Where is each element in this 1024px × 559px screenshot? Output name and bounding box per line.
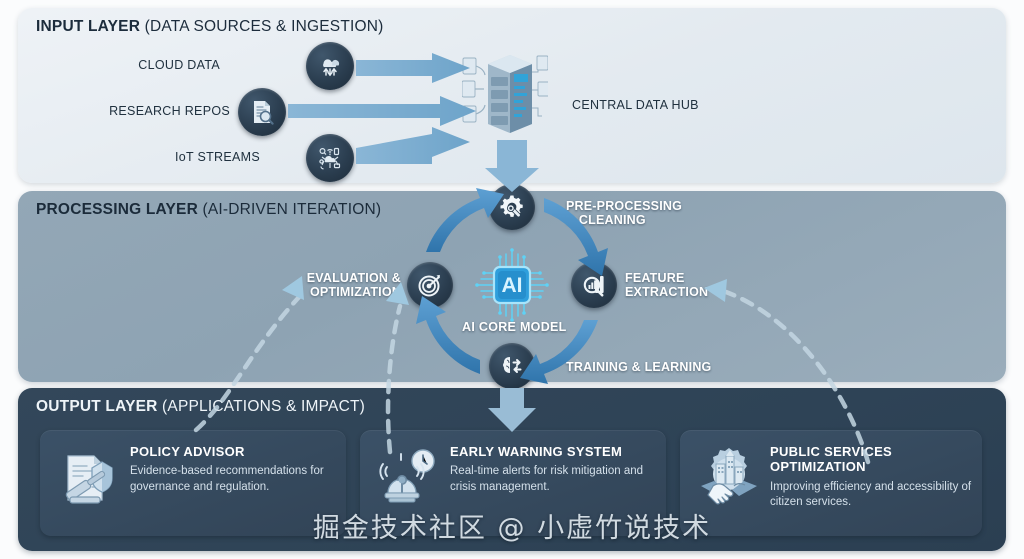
output-layer-title-rest: (APPLICATIONS & IMPACT) [158,398,365,415]
output-layer-title: OUTPUT LAYER (APPLICATIONS & IMPACT) [36,398,365,416]
svg-text:AI: AI [502,274,523,297]
input-layer-title-strong: INPUT LAYER [36,18,140,35]
chart-magnifier-icon[interactable] [571,262,617,308]
label-pre-processing: PRE-PROCESSING & CLEANING [566,199,706,228]
target-icon[interactable] [407,262,453,308]
diagram-canvas: INPUT LAYER (DATA SOURCES & INGESTION) C… [0,0,1024,559]
ai-core-model-caption: AI CORE MODEL [462,320,562,334]
ai-chip-icon[interactable]: AI [470,243,554,327]
output-card-title: EARLY WARNING SYSTEM [450,444,656,459]
gear-wrench-icon[interactable] [489,184,535,230]
input-layer-title-rest: (DATA SOURCES & INGESTION) [140,18,383,35]
output-card-title: POLICY ADVISOR [130,444,336,459]
processing-layer-title: PROCESSING LAYER (AI-DRIVEN ITERATION) [36,201,381,219]
label-pre-processing-line2: & CLEANING [566,213,706,227]
label-research-repos: RESEARCH REPOS [100,104,230,118]
output-card-text: POLICY ADVISOR Evidence-based recommenda… [126,442,336,495]
document-search-icon[interactable] [238,88,286,136]
label-feature-extraction-line2: EXTRACTION [625,285,755,299]
label-evaluation-optimization-line1: EVALUATION & [296,271,401,285]
label-feature-extraction-line1: FEATURE [625,271,755,285]
output-layer-title-strong: OUTPUT LAYER [36,398,158,415]
processing-layer-title-strong: PROCESSING LAYER [36,201,198,218]
label-evaluation-optimization: EVALUATION & OPTIMIZATION [296,271,401,300]
label-pre-processing-line1: PRE-PROCESSING [566,199,706,213]
output-card-desc: Real-time alerts for risk mitigation and… [450,464,656,494]
label-training-learning: TRAINING & LEARNING [566,360,746,374]
input-layer-title: INPUT LAYER (DATA SOURCES & INGESTION) [36,18,384,36]
cloud-upload-icon[interactable] [306,42,354,90]
iot-network-icon[interactable] [306,134,354,182]
handshake-city-gear-icon [692,442,766,512]
processing-layer-title-rest: (AI-DRIVEN ITERATION) [198,201,381,218]
label-training-learning-line1: TRAINING & LEARNING [566,360,746,374]
label-cloud-data: CLOUD DATA [120,58,220,72]
output-card-title: PUBLIC SERVICES OPTIMIZATION [770,444,972,475]
output-card-desc: Evidence-based recommendations for gover… [130,464,336,494]
watermark-text: 掘金技术社区 @ 小虚竹说技术 [0,506,1024,545]
brain-exchange-icon[interactable] [489,343,535,389]
label-feature-extraction: FEATURE EXTRACTION [625,271,755,300]
gavel-document-shield-icon [52,442,126,512]
label-evaluation-optimization-line2: OPTIMIZATION [296,285,401,299]
alarm-siren-clock-icon [372,442,446,512]
output-card-text: EARLY WARNING SYSTEM Real-time alerts fo… [446,442,656,495]
output-card-text: PUBLIC SERVICES OPTIMIZATION Improving e… [766,442,972,510]
label-central-data-hub: CENTRAL DATA HUB [572,98,699,112]
label-iot-streams: IoT STREAMS [140,150,260,164]
server-rack-icon[interactable] [462,50,548,142]
